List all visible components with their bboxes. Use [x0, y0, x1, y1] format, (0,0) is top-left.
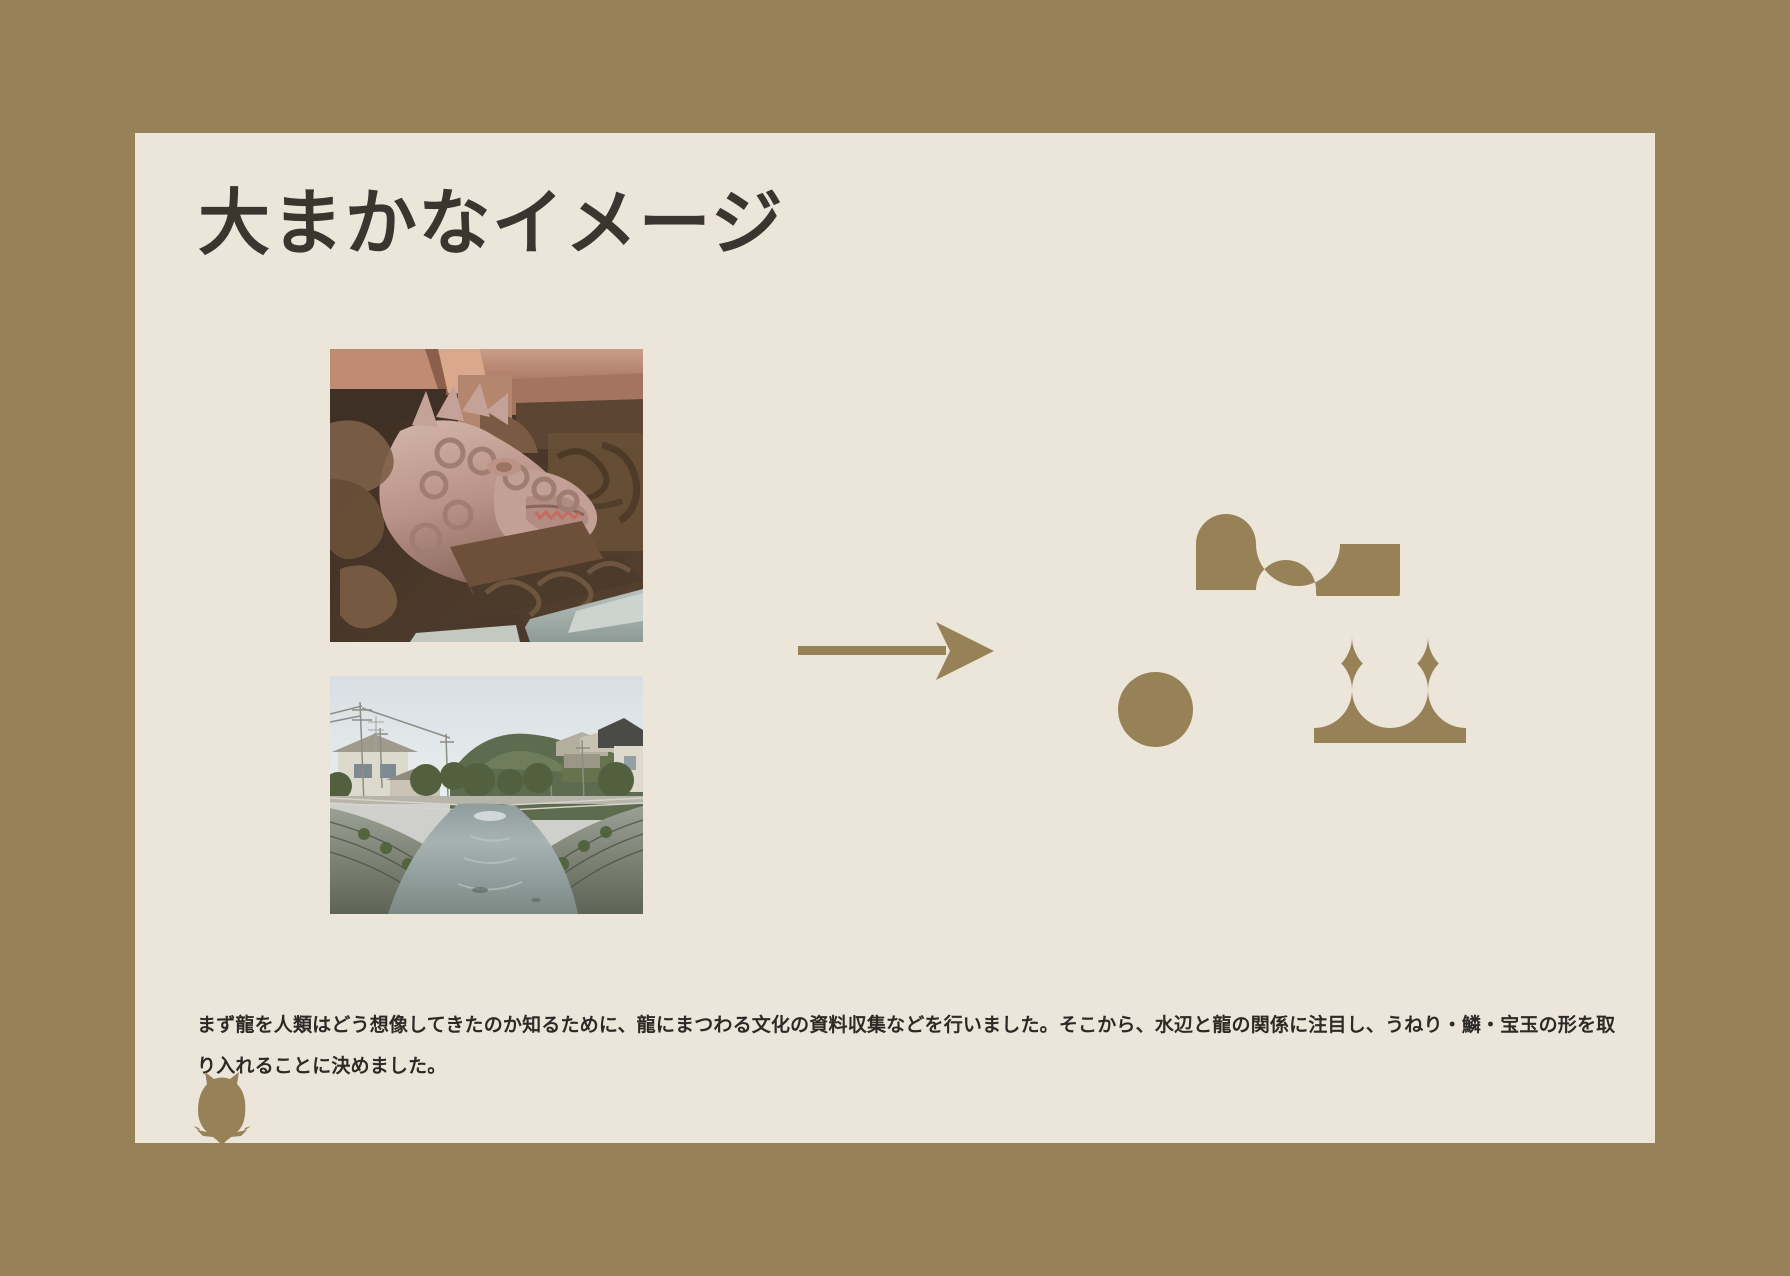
river-canal-photo: [330, 676, 643, 914]
wave-undulation-motif: [1196, 482, 1400, 596]
backdrop-top-band: [0, 0, 1478, 133]
backdrop-left-band: [0, 0, 135, 1276]
page-title: 大まかなイメージ: [198, 186, 784, 262]
dragon-scales-glyph: [1314, 637, 1466, 743]
slide-canvas: 大まかなイメージ: [0, 0, 1790, 1276]
slide-caption: まず龍を人類はどう想像してきたのか知るために、龍にまつわる文化の資料収集などを行…: [197, 1005, 1617, 1087]
arrow-right-glyph: [798, 616, 998, 686]
arrow-right-icon: [798, 616, 998, 686]
backdrop-right-band: [1655, 0, 1790, 1276]
river-canal-image: [330, 676, 643, 914]
dragon-carving-image: [330, 349, 643, 642]
dragon-carving-photo: [330, 349, 643, 642]
backdrop-bottom-band: [311, 1143, 1790, 1276]
owl-silhouette-glyph: [191, 1068, 253, 1146]
owl-silhouette-icon: [191, 1068, 253, 1146]
wave-undulation-glyph: [1196, 482, 1400, 596]
jewel-circle-motif: [1118, 672, 1193, 747]
dragon-scales-motif: [1314, 637, 1466, 743]
